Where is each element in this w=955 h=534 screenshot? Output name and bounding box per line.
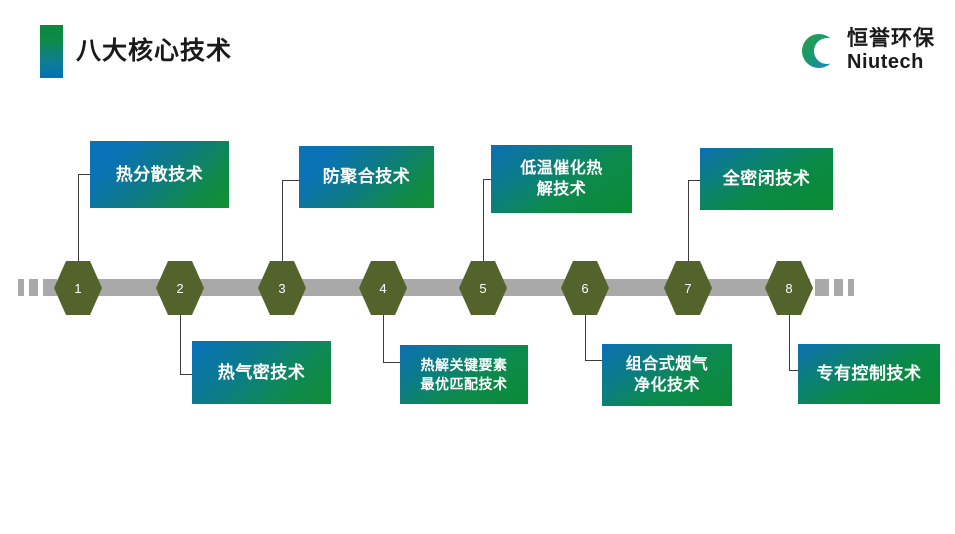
timeline-node-6[interactable]: 6 [561,261,609,315]
timeline-node-3[interactable]: 3 [258,261,306,315]
tech-box-label: 防聚合技术 [299,166,434,188]
timeline-node-2[interactable]: 2 [156,261,204,315]
timeline-node-number: 7 [684,282,691,295]
timeline-node-number: 2 [176,282,183,295]
timeline-node-4[interactable]: 4 [359,261,407,315]
tech-box-5[interactable]: 低温催化热 解技术 [491,145,632,213]
timeline-node-number: 3 [278,282,285,295]
logo-english-name: Niutech [847,51,924,73]
timeline-node-number: 8 [785,282,792,295]
timeline-node-number: 4 [379,282,386,295]
page-title: 八大核心技术 [76,34,232,68]
tech-box-label: 热分散技术 [90,164,229,186]
timeline-node-5[interactable]: 5 [459,261,507,315]
rail-dash-right-3 [848,279,854,296]
rail-dash-right-1 [815,279,829,296]
tech-box-7[interactable]: 全密闭技术 [700,148,833,210]
timeline-node-number: 1 [74,282,81,295]
tech-box-label: 低温催化热 解技术 [491,158,632,200]
tech-box-label: 热气密技术 [192,362,331,384]
timeline-node-number: 5 [479,282,486,295]
title-accent-bar [40,25,63,78]
timeline-node-7[interactable]: 7 [664,261,712,315]
slide-canvas: 八大核心技术 恒誉环保 Niutech [0,0,955,534]
tech-box-8[interactable]: 专有控制技术 [798,344,940,404]
niutech-circle-logo-icon [795,29,839,73]
rail-dash-left-1 [18,279,24,296]
tech-box-label: 组合式烟气 净化技术 [602,354,732,396]
timeline-node-number: 6 [581,282,588,295]
timeline-node-8[interactable]: 8 [765,261,813,315]
tech-box-label: 热解关键要素 最优匹配技术 [400,356,528,394]
rail-dash-right-2 [834,279,843,296]
tech-box-6[interactable]: 组合式烟气 净化技术 [602,344,732,406]
logo-chinese-name: 恒誉环保 [847,27,935,51]
tech-box-2[interactable]: 热气密技术 [192,341,331,404]
tech-box-3[interactable]: 防聚合技术 [299,146,434,208]
tech-box-4[interactable]: 热解关键要素 最优匹配技术 [400,345,528,404]
tech-box-label: 专有控制技术 [798,363,940,385]
tech-box-1[interactable]: 热分散技术 [90,141,229,208]
timeline-node-1[interactable]: 1 [54,261,102,315]
company-logo: 恒誉环保 Niutech [795,25,940,77]
tech-box-label: 全密闭技术 [700,168,833,190]
rail-dash-left-2 [29,279,38,296]
